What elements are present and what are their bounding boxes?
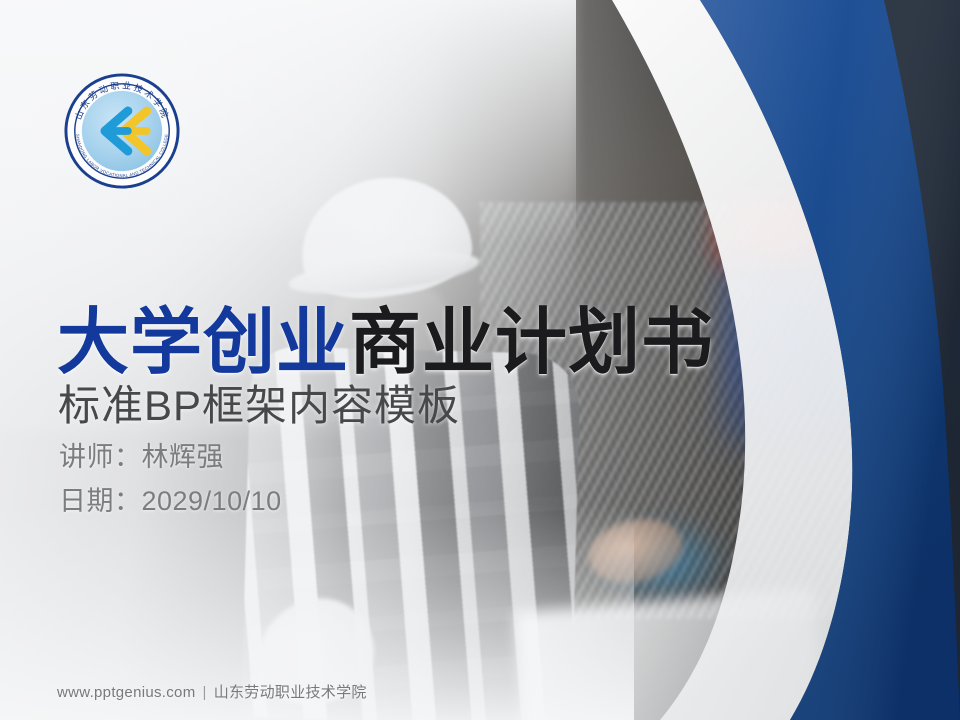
date-row: 日期：2029/10/10 [59,480,282,524]
college-logo-emblem: 山东劳动职业技术学院 SHANDONG LABOR VOCATIONAL AND… [63,72,181,190]
slide-meta: 讲师：林辉强 日期：2029/10/10 [59,436,282,523]
slide-content: 山东劳动职业技术学院 SHANDONG LABOR VOCATIONAL AND… [0,0,960,720]
presenter-value: 林辉强 [142,442,225,472]
presenter-row: 讲师：林辉强 [59,436,282,480]
college-logo: 山东劳动职业技术学院 SHANDONG LABOR VOCATIONAL AND… [63,72,181,190]
footer-institution: 山东劳动职业技术学院 [214,684,367,701]
presenter-label: 讲师： [59,442,142,472]
footer-website[interactable]: www.pptgenius.com [57,684,196,701]
slide-title: 大学创业商业计划书 [57,305,714,381]
slide-footer: www.pptgenius.com|山东劳动职业技术学院 [57,681,367,702]
date-value: 2029/10/10 [142,486,282,516]
date-label: 日期： [59,486,142,516]
title-dark-part: 商业计划书 [349,303,714,383]
slide-subtitle: 标准BP框架内容模板 [58,383,460,429]
footer-separator: | [203,684,207,701]
title-accent-part: 大学创业 [57,303,349,383]
presentation-slide: 山东劳动职业技术学院 SHANDONG LABOR VOCATIONAL AND… [0,0,960,720]
